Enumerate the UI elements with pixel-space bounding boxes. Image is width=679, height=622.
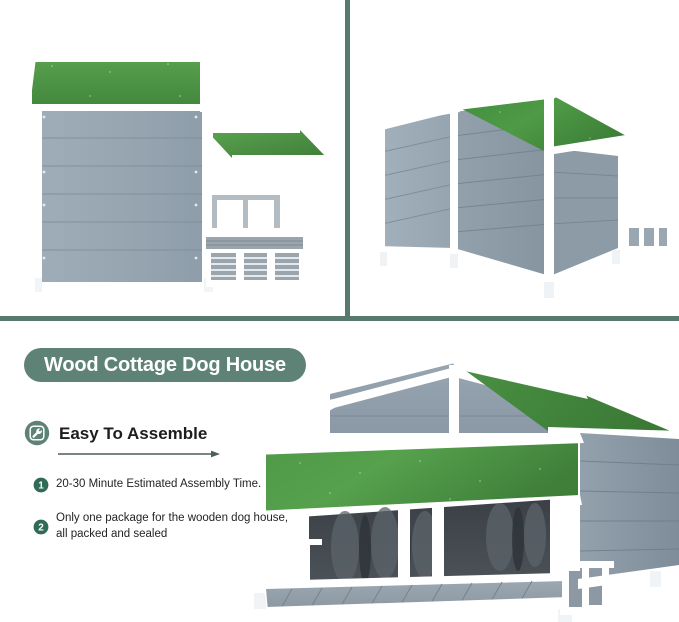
number-badge-2-icon: 2 [33, 519, 49, 535]
info-column: Wood Cottage Dog House Easy To Assemble [0, 321, 330, 622]
number-badge-1-icon: 1 [33, 477, 49, 493]
panel-divider-horizontal [0, 316, 679, 321]
panel-divider-vertical [345, 0, 350, 318]
panel-hero: Wood Cottage Dog House Easy To Assemble [0, 321, 679, 622]
list-item-text: 20-30 Minute Estimated Assembly Time. [56, 477, 261, 493]
dog-house-front-elevation-photo [0, 0, 345, 316]
number-badge-1-label: 1 [38, 481, 44, 492]
dog-house-rear-three-quarter-photo [350, 0, 679, 316]
list-item-text: Only one package for the wooden dog hous… [56, 511, 293, 543]
feature-heading-row: Easy To Assemble [24, 420, 207, 446]
product-infographic: Wood Cottage Dog House Easy To Assemble [0, 0, 679, 622]
panel-front-elevation [0, 0, 345, 316]
title-banner: Wood Cottage Dog House [24, 348, 306, 382]
wrench-in-square-icon [24, 420, 50, 446]
panel-rear-three-quarter [350, 0, 679, 316]
feature-heading: Easy To Assemble [59, 425, 207, 442]
list-item: 2 Only one package for the wooden dog ho… [33, 511, 293, 543]
page-title: Wood Cottage Dog House [44, 355, 286, 375]
number-badge-2-label: 2 [38, 522, 44, 533]
right-arrow-rule [58, 447, 220, 457]
list-item: 1 20-30 Minute Estimated Assembly Time. [33, 477, 293, 493]
bullet-list: 1 20-30 Minute Estimated Assembly Time. … [33, 477, 293, 561]
arrow-icon [58, 450, 220, 460]
